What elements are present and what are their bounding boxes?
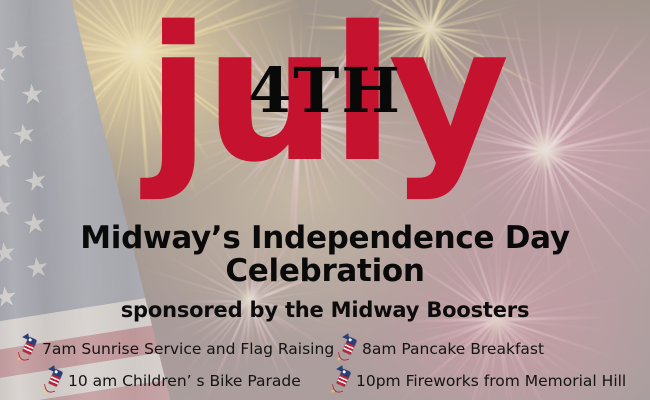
firecracker-icon bbox=[42, 368, 64, 394]
page-title: Midway’s Independence Day Celebration bbox=[0, 222, 650, 289]
firecracker-icon bbox=[336, 336, 358, 362]
list-item: 10pm Fireworks from Memorial Hill bbox=[330, 368, 650, 394]
independence-day-poster: ★★★★★★★★★★★★★★★★★★★★ july 4TH Midway’s I… bbox=[0, 0, 650, 400]
headline-line-2: Celebration bbox=[0, 255, 650, 288]
event-label: 8am Pancake Breakfast bbox=[362, 340, 544, 358]
firecracker-icon bbox=[16, 336, 38, 362]
firecracker-icon bbox=[330, 368, 352, 394]
title-fourth-overlay: 4TH bbox=[0, 60, 650, 122]
headline-line-1: Midway’s Independence Day bbox=[0, 222, 650, 255]
event-label: 10 am Children’ s Bike Parade bbox=[68, 372, 301, 390]
list-item: 8am Pancake Breakfast bbox=[330, 336, 650, 362]
event-list: 7am Sunrise Service and Flag Raising 8am… bbox=[0, 336, 650, 394]
event-label: 7am Sunrise Service and Flag Raising bbox=[42, 340, 334, 358]
list-item: 10 am Children’ s Bike Parade bbox=[0, 368, 330, 394]
event-label: 10pm Fireworks from Memorial Hill bbox=[356, 372, 626, 390]
sponsor-line: sponsored by the Midway Boosters bbox=[0, 298, 650, 322]
list-item: 7am Sunrise Service and Flag Raising bbox=[0, 336, 330, 362]
